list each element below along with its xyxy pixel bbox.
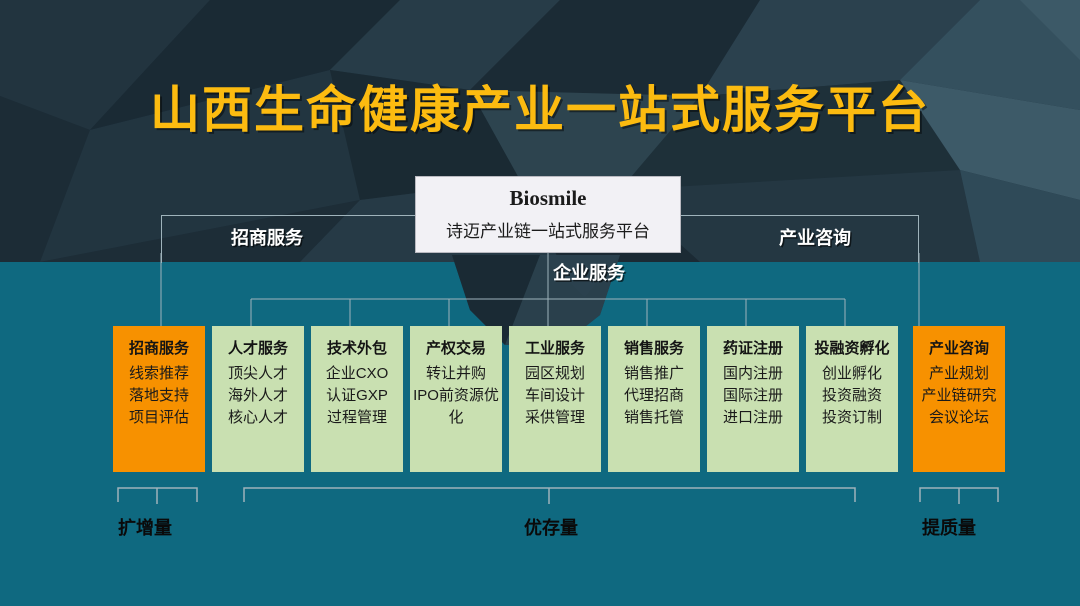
page-title: 山西生命健康产业一站式服务平台 bbox=[0, 70, 1080, 142]
service-card-item: 海外人才 bbox=[228, 385, 288, 407]
top-label-center: 企业服务 bbox=[553, 259, 625, 285]
service-card[interactable]: 产业咨询产业规划产业链研究会议论坛 bbox=[913, 326, 1005, 472]
service-card[interactable]: 技术外包企业CXO认证GXP过程管理 bbox=[311, 326, 403, 472]
brand-center-box: Biosmile 诗迈产业链一站式服务平台 bbox=[415, 176, 681, 253]
service-card-item: 国内注册 bbox=[723, 363, 783, 385]
top-label-left: 招商服务 bbox=[231, 224, 303, 250]
service-card-title: 投融资孵化 bbox=[814, 340, 889, 358]
service-card-title: 工业服务 bbox=[525, 340, 585, 358]
service-card-item: 进口注册 bbox=[723, 407, 783, 429]
service-card-item: IPO前资源优化 bbox=[410, 385, 502, 429]
service-card-title: 产权交易 bbox=[426, 340, 486, 358]
service-card-item: 项目评估 bbox=[129, 407, 189, 429]
service-card-item: 投资订制 bbox=[822, 407, 882, 429]
service-card-item: 企业CXO bbox=[326, 363, 389, 385]
service-card-item: 落地支持 bbox=[129, 385, 189, 407]
brand-name-cn: 诗迈产业链一站式服务平台 bbox=[446, 217, 650, 242]
service-card-title: 技术外包 bbox=[327, 340, 387, 358]
service-card-item: 产业链研究 bbox=[921, 385, 996, 407]
top-label-right: 产业咨询 bbox=[779, 224, 851, 250]
service-card-item: 顶尖人才 bbox=[228, 363, 288, 385]
service-card-item: 产业规划 bbox=[929, 363, 989, 385]
service-card-item: 代理招商 bbox=[624, 385, 684, 407]
service-card[interactable]: 产权交易转让并购IPO前资源优化 bbox=[410, 326, 502, 472]
service-card-item: 国际注册 bbox=[723, 385, 783, 407]
service-card[interactable]: 药证注册国内注册国际注册进口注册 bbox=[707, 326, 799, 472]
service-card[interactable]: 销售服务销售推广代理招商销售托管 bbox=[608, 326, 700, 472]
service-card[interactable]: 招商服务线索推荐落地支持项目评估 bbox=[113, 326, 205, 472]
service-card-item: 采供管理 bbox=[525, 407, 585, 429]
grouping-brackets bbox=[0, 480, 1080, 520]
service-card[interactable]: 人才服务顶尖人才海外人才核心人才 bbox=[212, 326, 304, 472]
bracket-shapes bbox=[0, 480, 1080, 520]
service-card[interactable]: 投融资孵化创业孵化投资融资投资订制 bbox=[806, 326, 898, 472]
service-card-item: 车间设计 bbox=[525, 385, 585, 407]
service-card-item: 创业孵化 bbox=[822, 363, 882, 385]
service-card-item: 过程管理 bbox=[327, 407, 387, 429]
service-card-item: 核心人才 bbox=[228, 407, 288, 429]
connector-tree bbox=[0, 253, 1080, 328]
service-card-item: 投资融资 bbox=[822, 385, 882, 407]
service-card-title: 人才服务 bbox=[228, 340, 288, 358]
service-card-title: 招商服务 bbox=[129, 340, 189, 358]
service-card-title: 药证注册 bbox=[723, 340, 783, 358]
brand-name-en: Biosmile bbox=[510, 187, 587, 210]
service-card-item: 会议论坛 bbox=[929, 407, 989, 429]
service-card[interactable]: 工业服务园区规划车间设计采供管理 bbox=[509, 326, 601, 472]
service-card-item: 转让并购 bbox=[426, 363, 486, 385]
service-card-item: 园区规划 bbox=[525, 363, 585, 385]
service-card-item: 销售托管 bbox=[624, 407, 684, 429]
service-card-title: 产业咨询 bbox=[929, 340, 989, 358]
connector-lines bbox=[0, 253, 1080, 328]
service-card-title: 销售服务 bbox=[624, 340, 684, 358]
service-card-row: 招商服务线索推荐落地支持项目评估人才服务顶尖人才海外人才核心人才技术外包企业CX… bbox=[0, 326, 1080, 472]
service-card-item: 销售推广 bbox=[624, 363, 684, 385]
service-card-item: 线索推荐 bbox=[129, 363, 189, 385]
slide-canvas: 山西生命健康产业一站式服务平台 招商服务 产业咨询 Biosmile 诗迈产业链… bbox=[0, 0, 1080, 606]
service-card-item: 认证GXP bbox=[326, 385, 388, 407]
